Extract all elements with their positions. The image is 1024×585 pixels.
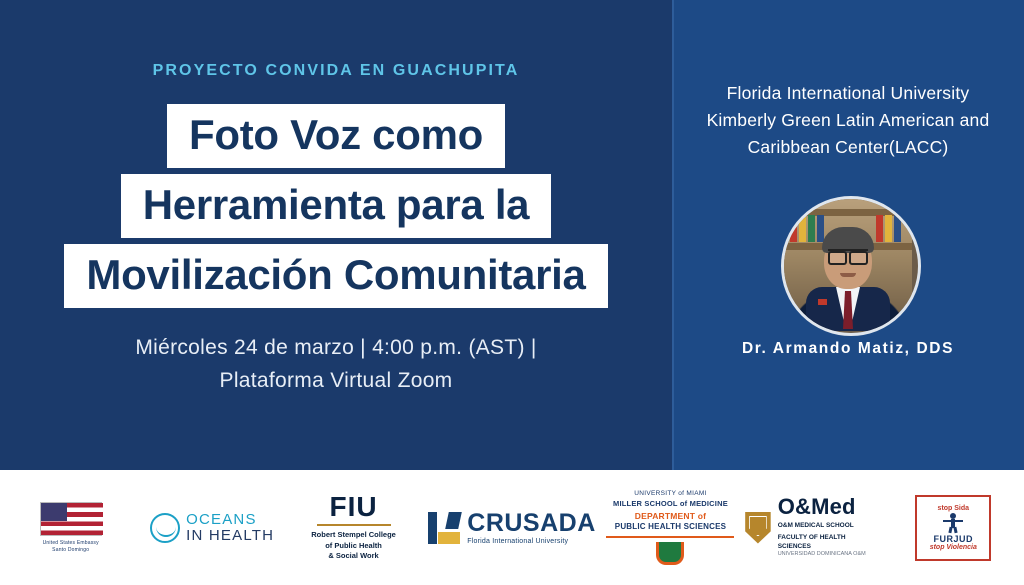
mouth [840, 273, 856, 277]
wave-circle-icon [150, 513, 180, 543]
logo-oceans-in-health: OCEANS IN HEALTH [141, 470, 282, 585]
logo-united-states-embassy: United States Embassy Santo Domingo [0, 470, 141, 585]
miami-line-1: UNIVERSITY of MIAMI [606, 490, 734, 498]
organizer-line-3: Caribbean Center(LACC) [672, 134, 1024, 161]
lapel-pin-icon [818, 299, 827, 305]
logo-furjud: stop Sida FURJUD stop Violencia [883, 470, 1024, 585]
mark-bar-right [445, 512, 462, 529]
mark-bar-bottom [438, 532, 460, 544]
fiu-sub-line-2: of Public Health [325, 541, 382, 552]
title-line-1: Foto Voz como [167, 104, 505, 168]
poster-title: Foto Voz como Herramienta para la Movili… [0, 104, 672, 314]
book-icon [817, 215, 824, 242]
person-figure-icon [940, 513, 966, 533]
crusada-subtitle: Florida International University [467, 538, 596, 545]
shield-icon [745, 512, 771, 544]
o-and-med-text: O&Med O&M MEDICAL SCHOOL FACULTY OF HEAL… [778, 496, 879, 559]
figure-leg-right [954, 526, 958, 532]
embassy-line-1: United States Embassy [43, 540, 99, 547]
sponsor-logo-bar: United States Embassy Santo Domingo OCEA… [0, 470, 1024, 585]
event-datetime: Miércoles 24 de marzo | 4:00 p.m. (AST) … [0, 332, 672, 365]
embassy-line-2: Santo Domingo [52, 547, 89, 554]
book-icon [799, 215, 806, 242]
miami-line-4: PUBLIC HEALTH SCIENCES [606, 522, 734, 532]
title-line-3: Movilización Comunitaria [64, 244, 607, 308]
omed-line-4: UNIVERSIDAD DOMINICANA O&M [778, 551, 879, 559]
mark-bar-left [428, 512, 437, 544]
miami-line-2: MILLER SCHOOL of MEDICINE [606, 499, 734, 509]
event-platform: Plataforma Virtual Zoom [0, 365, 672, 398]
us-flag-icon [40, 502, 102, 536]
o-and-med-lockup: O&Med O&M MEDICAL SCHOOL FACULTY OF HEAL… [745, 496, 878, 559]
oceans-line-2: IN HEALTH [186, 528, 274, 544]
organizer-line-1: Florida International University [672, 80, 1024, 107]
crusada-lockup: CRUSADA Florida International University [428, 511, 596, 545]
fiu-rule [317, 524, 391, 526]
book-icon [885, 215, 892, 242]
flag-canton [41, 503, 67, 521]
project-kicker: PROYECTO CONVIDA EN GUACHUPITA [0, 62, 672, 80]
book-icon [790, 215, 797, 242]
speaker-portrait [781, 196, 921, 336]
crusada-wordmark: CRUSADA [467, 511, 596, 536]
furjud-line-3: stop Violencia [930, 544, 977, 551]
miami-rule [606, 536, 734, 538]
title-line-2: Herramienta para la [121, 174, 552, 238]
fiu-sub-line-3: & Social Work [328, 551, 378, 562]
furjud-line-2: FURJUD [934, 534, 974, 544]
logo-fiu-stempel: FIU Robert Stempel College of Public Hea… [283, 470, 424, 585]
fiu-wordmark: FIU [330, 493, 378, 521]
organizer-line-2: Kimberly Green Latin American and [672, 107, 1024, 134]
omed-wordmark: O&Med [778, 496, 879, 518]
crusada-mark-icon [428, 512, 460, 544]
book-icon [894, 215, 901, 242]
furjud-line-1: stop Sida [938, 505, 970, 512]
glasses-icon [828, 249, 868, 262]
portrait-image [784, 199, 912, 327]
miami-line-3: DEPARTMENT of [606, 511, 734, 522]
event-poster: PROYECTO CONVIDA EN GUACHUPITA Foto Voz … [0, 0, 1024, 585]
figure-leg-left [949, 526, 953, 532]
organizer-block: Florida International University Kimberl… [672, 80, 1024, 161]
speaker-name: Dr. Armando Matiz, DDS [672, 340, 1024, 358]
crusada-text: CRUSADA Florida International University [467, 511, 596, 545]
event-details: Miércoles 24 de marzo | 4:00 p.m. (AST) … [0, 332, 672, 397]
furjud-badge: stop Sida FURJUD stop Violencia [915, 495, 991, 561]
logo-crusada: CRUSADA Florida International University [424, 470, 600, 585]
oceans-line-1: OCEANS [186, 512, 274, 528]
logo-university-of-miami: UNIVERSITY of MIAMI MILLER SCHOOL of MED… [600, 470, 741, 585]
book-icon [876, 215, 883, 242]
omed-line-3: FACULTY OF HEALTH SCIENCES [778, 533, 879, 551]
figure-arms [943, 520, 963, 523]
panel-divider [672, 0, 674, 470]
book-icon [808, 215, 815, 242]
oceans-in-health-lockup: OCEANS IN HEALTH [150, 512, 274, 544]
omed-line-2: O&M MEDICAL SCHOOL [778, 521, 879, 530]
oceans-in-health-text: OCEANS IN HEALTH [186, 512, 274, 544]
miami-u-icon [656, 542, 684, 565]
fiu-sub-line-1: Robert Stempel College [311, 530, 396, 541]
miami-text-block: UNIVERSITY of MIAMI MILLER SCHOOL of MED… [606, 490, 734, 564]
logo-o-and-med: O&Med O&M MEDICAL SCHOOL FACULTY OF HEAL… [741, 470, 882, 585]
